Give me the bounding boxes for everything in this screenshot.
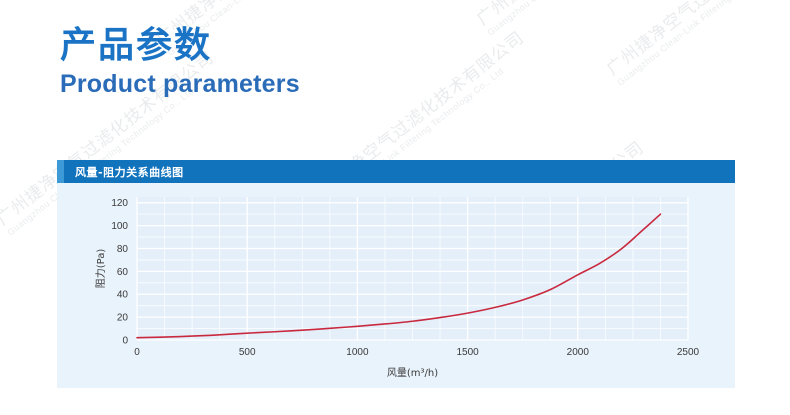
watermark-text: 广州捷净空气过滤化技术有限公司Guangzhou Clean-Link Filt… [600,0,790,88]
chart-panel-header: 风量-阻力关系曲线图 [57,160,735,183]
x-tick-label: 500 [239,347,256,358]
plot-area: 05001000150020002500020406080100120风量(m³… [57,183,735,388]
page-title-en: Product parameters [60,69,300,100]
chart-title: 风量-阻力关系曲线图 [75,164,184,180]
x-tick-label: 1500 [456,347,479,358]
x-tick-label: 1000 [346,347,369,358]
x-tick-label: 2000 [567,347,590,358]
chart-panel: 风量-阻力关系曲线图 05001000150020002500020406080… [57,160,735,388]
page-title-cn: 产品参数 [60,24,300,65]
line-chart-svg: 05001000150020002500020406080100120风量(m³… [57,183,735,388]
y-tick-label: 120 [111,198,128,209]
x-tick-label: 0 [134,347,140,358]
y-tick-label: 100 [111,221,128,232]
y-axis-title: 阻力(Pa) [94,249,107,289]
watermark-text: 广州捷净空气过滤化技术有限公司Guangzhou Clean-Link Filt… [470,0,704,38]
header-accent-bar [57,160,64,183]
x-axis-title: 风量(m³/h) [387,367,438,379]
y-tick-label: 40 [117,290,129,301]
y-tick-label: 20 [117,313,129,324]
y-tick-label: 80 [117,244,129,255]
y-tick-label: 0 [122,336,128,347]
page-root: 广州捷净空气过滤化技术有限公司Guangzhou Clean-Link Filt… [0,0,790,415]
y-tick-label: 60 [117,267,129,278]
page-heading: 产品参数 Product parameters [60,24,300,101]
chart-panel-body: 05001000150020002500020406080100120风量(m³… [57,183,735,388]
x-tick-label: 2500 [677,347,700,358]
